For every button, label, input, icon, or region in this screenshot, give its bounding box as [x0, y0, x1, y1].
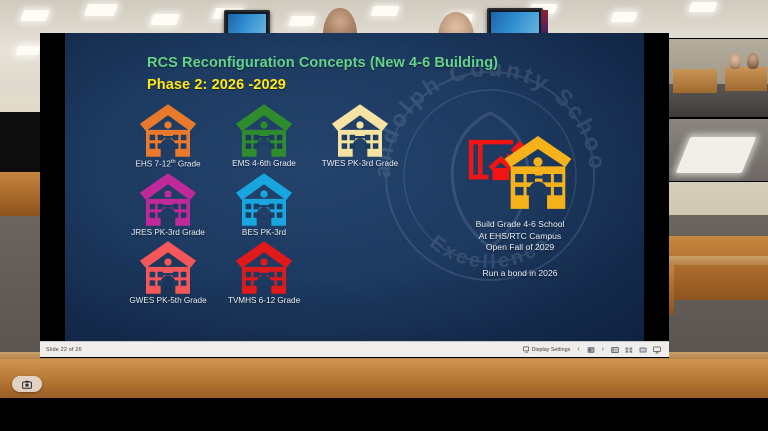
existing-schools-group: EHS 7-12th Grade: [120, 103, 420, 305]
school-building-icon: [233, 103, 295, 158]
school-label: TVMHS 6-12 Grade: [228, 296, 300, 305]
build-plan-line: At EHS/RTC Campus: [425, 231, 615, 243]
ceiling-light: [688, 2, 717, 12]
school-label: JRES PK-3rd Grade: [131, 228, 205, 237]
previous-slide-button[interactable]: ‹: [576, 346, 580, 353]
school-label: EMS 4-6th Grade: [232, 159, 296, 168]
ceiling-light: [150, 14, 180, 25]
school-building-icon: [137, 172, 199, 227]
school-building-icon: [233, 172, 295, 227]
build-plan-text: Build Grade 4-6 School At EHS/RTC Campus…: [425, 219, 615, 254]
board-desk: [0, 170, 44, 216]
school-item-twes: TWES PK-3rd Grade: [312, 103, 408, 169]
blueprint-and-school-icon: [463, 133, 578, 215]
ceiling-light: [16, 46, 41, 55]
school-building-icon: [137, 240, 199, 295]
school-label: BES PK-3rd: [242, 228, 286, 237]
normal-view-button[interactable]: [611, 346, 619, 354]
slide-sorter-button[interactable]: [625, 346, 633, 354]
board-desk: [0, 356, 768, 404]
ceiling-light: [288, 16, 315, 26]
toolbar-controls: Display Settings ‹ ›: [523, 346, 661, 354]
slide-title: RCS Reconfiguration Concepts (New 4-6 Bu…: [147, 55, 498, 71]
school-row: GWES PK-5th Grade: [120, 240, 420, 305]
powerpoint-slide: Randolph County Schools Excellence RCS R…: [65, 33, 644, 346]
slide-counter: Slide 22 of 26: [46, 347, 82, 353]
tile-attendee: [747, 53, 759, 69]
presentation-view-button[interactable]: [653, 346, 661, 354]
reading-view-button[interactable]: [639, 346, 647, 354]
school-item-spacer: [312, 240, 408, 305]
ceiling-light: [370, 6, 399, 16]
display-settings-label: Display Settings: [532, 347, 571, 353]
ceiling-light: [20, 10, 50, 21]
school-item-ehs: EHS 7-12th Grade: [120, 103, 216, 169]
participant-video-tile[interactable]: [668, 38, 768, 118]
school-row: EHS 7-12th Grade: [120, 103, 420, 169]
school-label: TWES PK-3rd Grade: [322, 159, 398, 168]
slide-subtitle: Phase 2: 2026 -2029: [147, 77, 286, 93]
next-slide-button[interactable]: ›: [601, 346, 605, 353]
school-item-ems: EMS 4-6th Grade: [216, 103, 312, 169]
build-plan-group: Build Grade 4-6 School At EHS/RTC Campus…: [425, 133, 615, 278]
display-settings-button[interactable]: Display Settings: [523, 346, 571, 353]
school-item-spacer: [312, 172, 408, 237]
letterbox-bottom: [0, 398, 768, 431]
school-building-icon: [329, 103, 391, 158]
bond-note: Run a bond in 2026: [425, 268, 615, 278]
school-item-gwes: GWES PK-5th Grade: [120, 240, 216, 305]
build-plan-line: Open Fall of 2029: [425, 242, 615, 254]
school-building-icon: [233, 240, 295, 295]
school-building-icon: [137, 103, 199, 158]
build-plan-line: Build Grade 4-6 School: [425, 219, 615, 231]
school-row: JRES PK-3rd Grade: [120, 172, 420, 237]
school-item-bes: BES PK-3rd: [216, 172, 312, 237]
side-desk: [660, 236, 768, 300]
ceiling-light: [610, 12, 637, 22]
tile-desk: [725, 67, 767, 91]
participant-video-tile[interactable]: [668, 118, 768, 182]
screen-share-frame: Randolph County Schools Excellence RCS R…: [40, 33, 669, 358]
shadow-region: [0, 112, 44, 172]
tile-attendee: [729, 53, 741, 69]
current-slide-thumbnail-button[interactable]: [587, 346, 595, 354]
display-settings-icon: [523, 346, 530, 353]
school-item-jres: JRES PK-3rd Grade: [120, 172, 216, 237]
tile-desk: [673, 69, 717, 93]
screenshot-indicator[interactable]: [12, 376, 42, 392]
video-call-screen: Randolph County Schools Excellence RCS R…: [0, 0, 768, 431]
presentation-toolbar: Slide 22 of 26 Display Settings ‹ ›: [40, 341, 669, 357]
screenshot-icon: [22, 380, 32, 389]
school-item-tvmhs: TVMHS 6-12 Grade: [216, 240, 312, 305]
ceiling-light: [84, 4, 118, 16]
school-label: GWES PK-5th Grade: [129, 296, 206, 305]
school-label: EHS 7-12th Grade: [135, 159, 200, 169]
